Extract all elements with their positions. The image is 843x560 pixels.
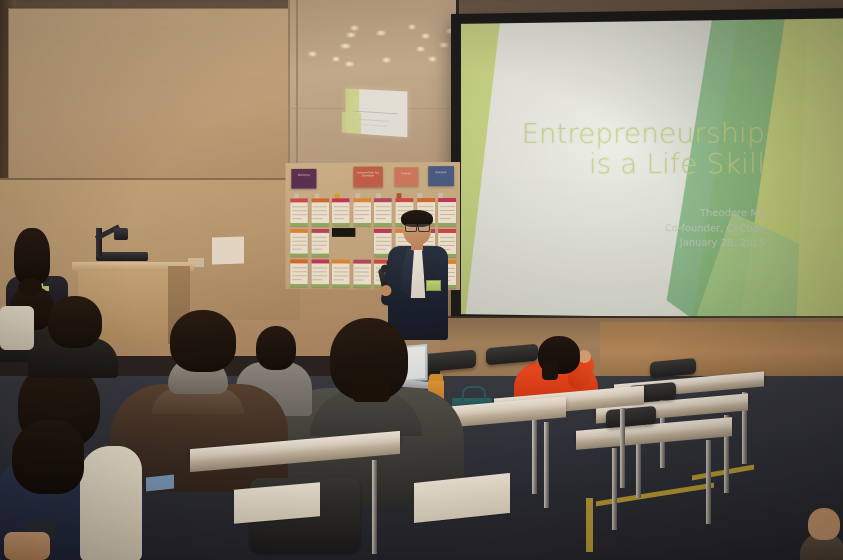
glass-partition [288, 0, 459, 170]
desk-leg [372, 460, 377, 554]
student-back-left-2-head [48, 296, 102, 348]
student-orange-sweater-neck-hair [542, 362, 558, 380]
student-white-sleeve [0, 306, 34, 350]
poster-card-text-line [440, 206, 455, 207]
poster-card-text-line [334, 267, 349, 268]
poster-card-footer [311, 223, 328, 226]
poster-card-footer [353, 223, 371, 226]
poster-card-footer [311, 284, 328, 287]
poster-card-header-bar [438, 198, 456, 202]
slide-reflection-line [363, 124, 387, 127]
slide-presenter-role: Co-founder, CoCoon [665, 222, 765, 238]
poster-card-header-bar [332, 198, 350, 202]
poster-card-text-line [292, 206, 306, 207]
poster-logo-card [332, 228, 355, 237]
poster-header-card-label: Software/Web App Developer [353, 171, 382, 177]
poster-card-text-line [313, 271, 328, 272]
ceiling-light-reflection [416, 47, 425, 51]
poster-card-header-bar [353, 198, 371, 202]
speaker-hand [380, 284, 393, 297]
student-far-right-edge [800, 512, 843, 560]
desk-leg [544, 422, 549, 508]
ceiling-light-reflection [340, 44, 351, 48]
poster-header-card-label: Finance [395, 172, 419, 175]
poster-card [311, 259, 328, 287]
ceiling-light-reflection [428, 57, 437, 61]
poster-card-text-line [313, 249, 323, 250]
poster-card-text-line [292, 210, 306, 211]
slide-date: January 28, 2015 [665, 237, 765, 253]
slide-reflection-line [359, 119, 389, 122]
poster-card-text-line [313, 275, 328, 276]
document-camera-head [114, 228, 128, 240]
poster-card-text-line [313, 214, 328, 215]
poster-card-text-line [292, 214, 306, 215]
poster-card-text-line [418, 206, 433, 207]
poster-card-footer [353, 284, 371, 287]
poster-card-footer [290, 284, 307, 287]
poster-card-text-line [292, 245, 306, 246]
poster-card-text-line [292, 249, 302, 250]
poster-card [332, 260, 350, 288]
student-grey-hoodie-neck [352, 368, 390, 402]
poster-card-header-bar [311, 259, 328, 263]
poster-card-header-bar [332, 260, 350, 264]
eyeglasses-icon [405, 224, 430, 230]
poster-card-text-line [334, 210, 349, 211]
ceiling-light-reflection [308, 52, 317, 56]
poster-card-text-line [313, 241, 328, 242]
poster-card-text-line [355, 275, 370, 276]
ceiling-light-reflection [408, 25, 416, 29]
poster-card-header-bar [290, 259, 307, 263]
poster-card-text-line [355, 268, 370, 269]
microphone-head [380, 264, 389, 273]
paper-note-on-wall [212, 236, 244, 264]
student-front-left-sleeve [80, 446, 142, 560]
poster-card-footer [311, 254, 328, 257]
student-back-left-2 [28, 296, 120, 374]
poster-card-header-bar [311, 198, 328, 202]
poster-card-text-line [313, 279, 323, 280]
poster-card-text-line [292, 279, 302, 280]
step-edge-marker [586, 498, 593, 552]
poster-header-card-label: Marketing [291, 174, 316, 177]
poster-card [353, 260, 371, 288]
poster-card [311, 229, 328, 257]
wood-wall-panel-right [600, 322, 843, 382]
slide-title-line-2: is a Life Skill [489, 150, 765, 181]
poster-card-text-line [313, 210, 328, 211]
poster-card-footer [290, 254, 307, 257]
poster-card-text-line [313, 206, 328, 207]
poster-card-text-line [313, 267, 328, 268]
poster-card-text-line [355, 206, 370, 207]
ceiling-light-reflection [350, 26, 359, 30]
poster-card-text-line [355, 279, 365, 280]
student-front-left-ponytail [0, 362, 154, 560]
poster-card [290, 229, 307, 257]
poster-card-text-line [376, 210, 391, 211]
ceiling-light-reflection [332, 57, 340, 61]
student-far-right-head [808, 508, 840, 540]
ceiling-light-reflection [376, 31, 386, 35]
presentation-slide: Entrepreneurship is a Life Skill Theodor… [461, 18, 843, 319]
poster-card-text-line [292, 275, 306, 276]
speaker-name-badge [426, 280, 441, 291]
poster-card-text-line [313, 218, 323, 219]
poster-card-text-line [334, 206, 349, 207]
ceiling-light-reflection [345, 62, 354, 66]
poster-card [290, 259, 307, 287]
student-brown-quilted-head [170, 310, 236, 372]
poster-card-text-line [334, 279, 344, 280]
desk-leg [620, 408, 625, 488]
projection-screen-frame: Entrepreneurship is a Life Skill Theodor… [451, 8, 843, 332]
poster-header-card: Finance [395, 167, 419, 186]
poster-card-text-line [376, 249, 386, 250]
glass-mullion [296, 0, 298, 170]
poster-card-text-line [334, 214, 349, 215]
poster-card-text-line [292, 267, 306, 268]
slide-title-line-1: Entrepreneurship [489, 118, 765, 150]
ceiling-light-reflection [439, 43, 449, 47]
poster-card-text-line [355, 214, 370, 215]
poster-card-footer [332, 284, 350, 287]
poster-card-text-line [334, 271, 349, 272]
poster-card-text-line [313, 237, 328, 238]
desk-leg [706, 440, 711, 524]
slide-reflection-green-wedge-2 [342, 112, 361, 134]
slide-presenter-name: Theodore Ma [665, 207, 765, 223]
projection-screen-surface: Entrepreneurship is a Life Skill Theodor… [461, 18, 843, 319]
poster-card-header-bar [290, 229, 307, 233]
slide-subtitle-block: Theodore Ma Co-founder, CoCoon January 2… [665, 207, 765, 253]
poster-card-text-line [292, 218, 302, 219]
poster-card-text-line [355, 272, 370, 273]
poster-card-text-line [292, 271, 306, 272]
desk-leg [532, 416, 537, 494]
poster-card [311, 198, 328, 226]
poster-card-text-line [334, 275, 349, 276]
poster-header-card: Designer [428, 166, 454, 186]
poster-header-card-label: Designer [428, 171, 454, 174]
poster-card-text-line [292, 237, 306, 238]
ceiling-light-reflection [382, 58, 391, 62]
document-camera-base [96, 252, 148, 261]
slide-title: Entrepreneurship is a Life Skill [489, 118, 765, 180]
ceiling-light-reflection [346, 33, 356, 37]
poster-card [332, 198, 350, 226]
poster-card-footer [332, 223, 350, 226]
wall-panel-upper-left [8, 8, 298, 180]
poster-card-text-line [355, 210, 370, 211]
poster-card-header-bar [353, 260, 371, 264]
student-back-left-hair-bun [18, 278, 42, 296]
poster-header-card: Software/Web App Developer [353, 166, 382, 187]
poster-card [290, 198, 307, 226]
slide-reflection-in-glass [346, 89, 408, 138]
lecture-hall-photo: Entrepreneurship is a Life Skill Theodor… [0, 0, 843, 560]
poster-card-text-line [334, 218, 344, 219]
poster-card-header-bar [417, 198, 435, 202]
student-front-left-hand [4, 532, 50, 560]
poster-card-text-line [376, 206, 391, 207]
poster-card-header-bar [396, 198, 414, 202]
poster-card-text-line [355, 218, 365, 219]
poster-card-text-line [397, 206, 412, 207]
desk-leg [612, 448, 617, 530]
poster-card-header-bar [374, 198, 392, 202]
poster-card-header-bar [311, 229, 328, 233]
poster-card-header-bar [290, 198, 307, 202]
poster-card-text-line [313, 245, 328, 246]
poster-card-text-line [292, 241, 306, 242]
poster-card-text-line [376, 218, 386, 219]
student-front-left-hair [12, 420, 84, 494]
poster-card [353, 198, 371, 226]
poster-card-footer [290, 223, 307, 226]
ceiling-light-reflection [421, 34, 430, 38]
poster-card-text-line [440, 210, 455, 211]
woman-seated-left-hair [14, 228, 50, 284]
poster-header-card: Marketing [291, 169, 316, 189]
